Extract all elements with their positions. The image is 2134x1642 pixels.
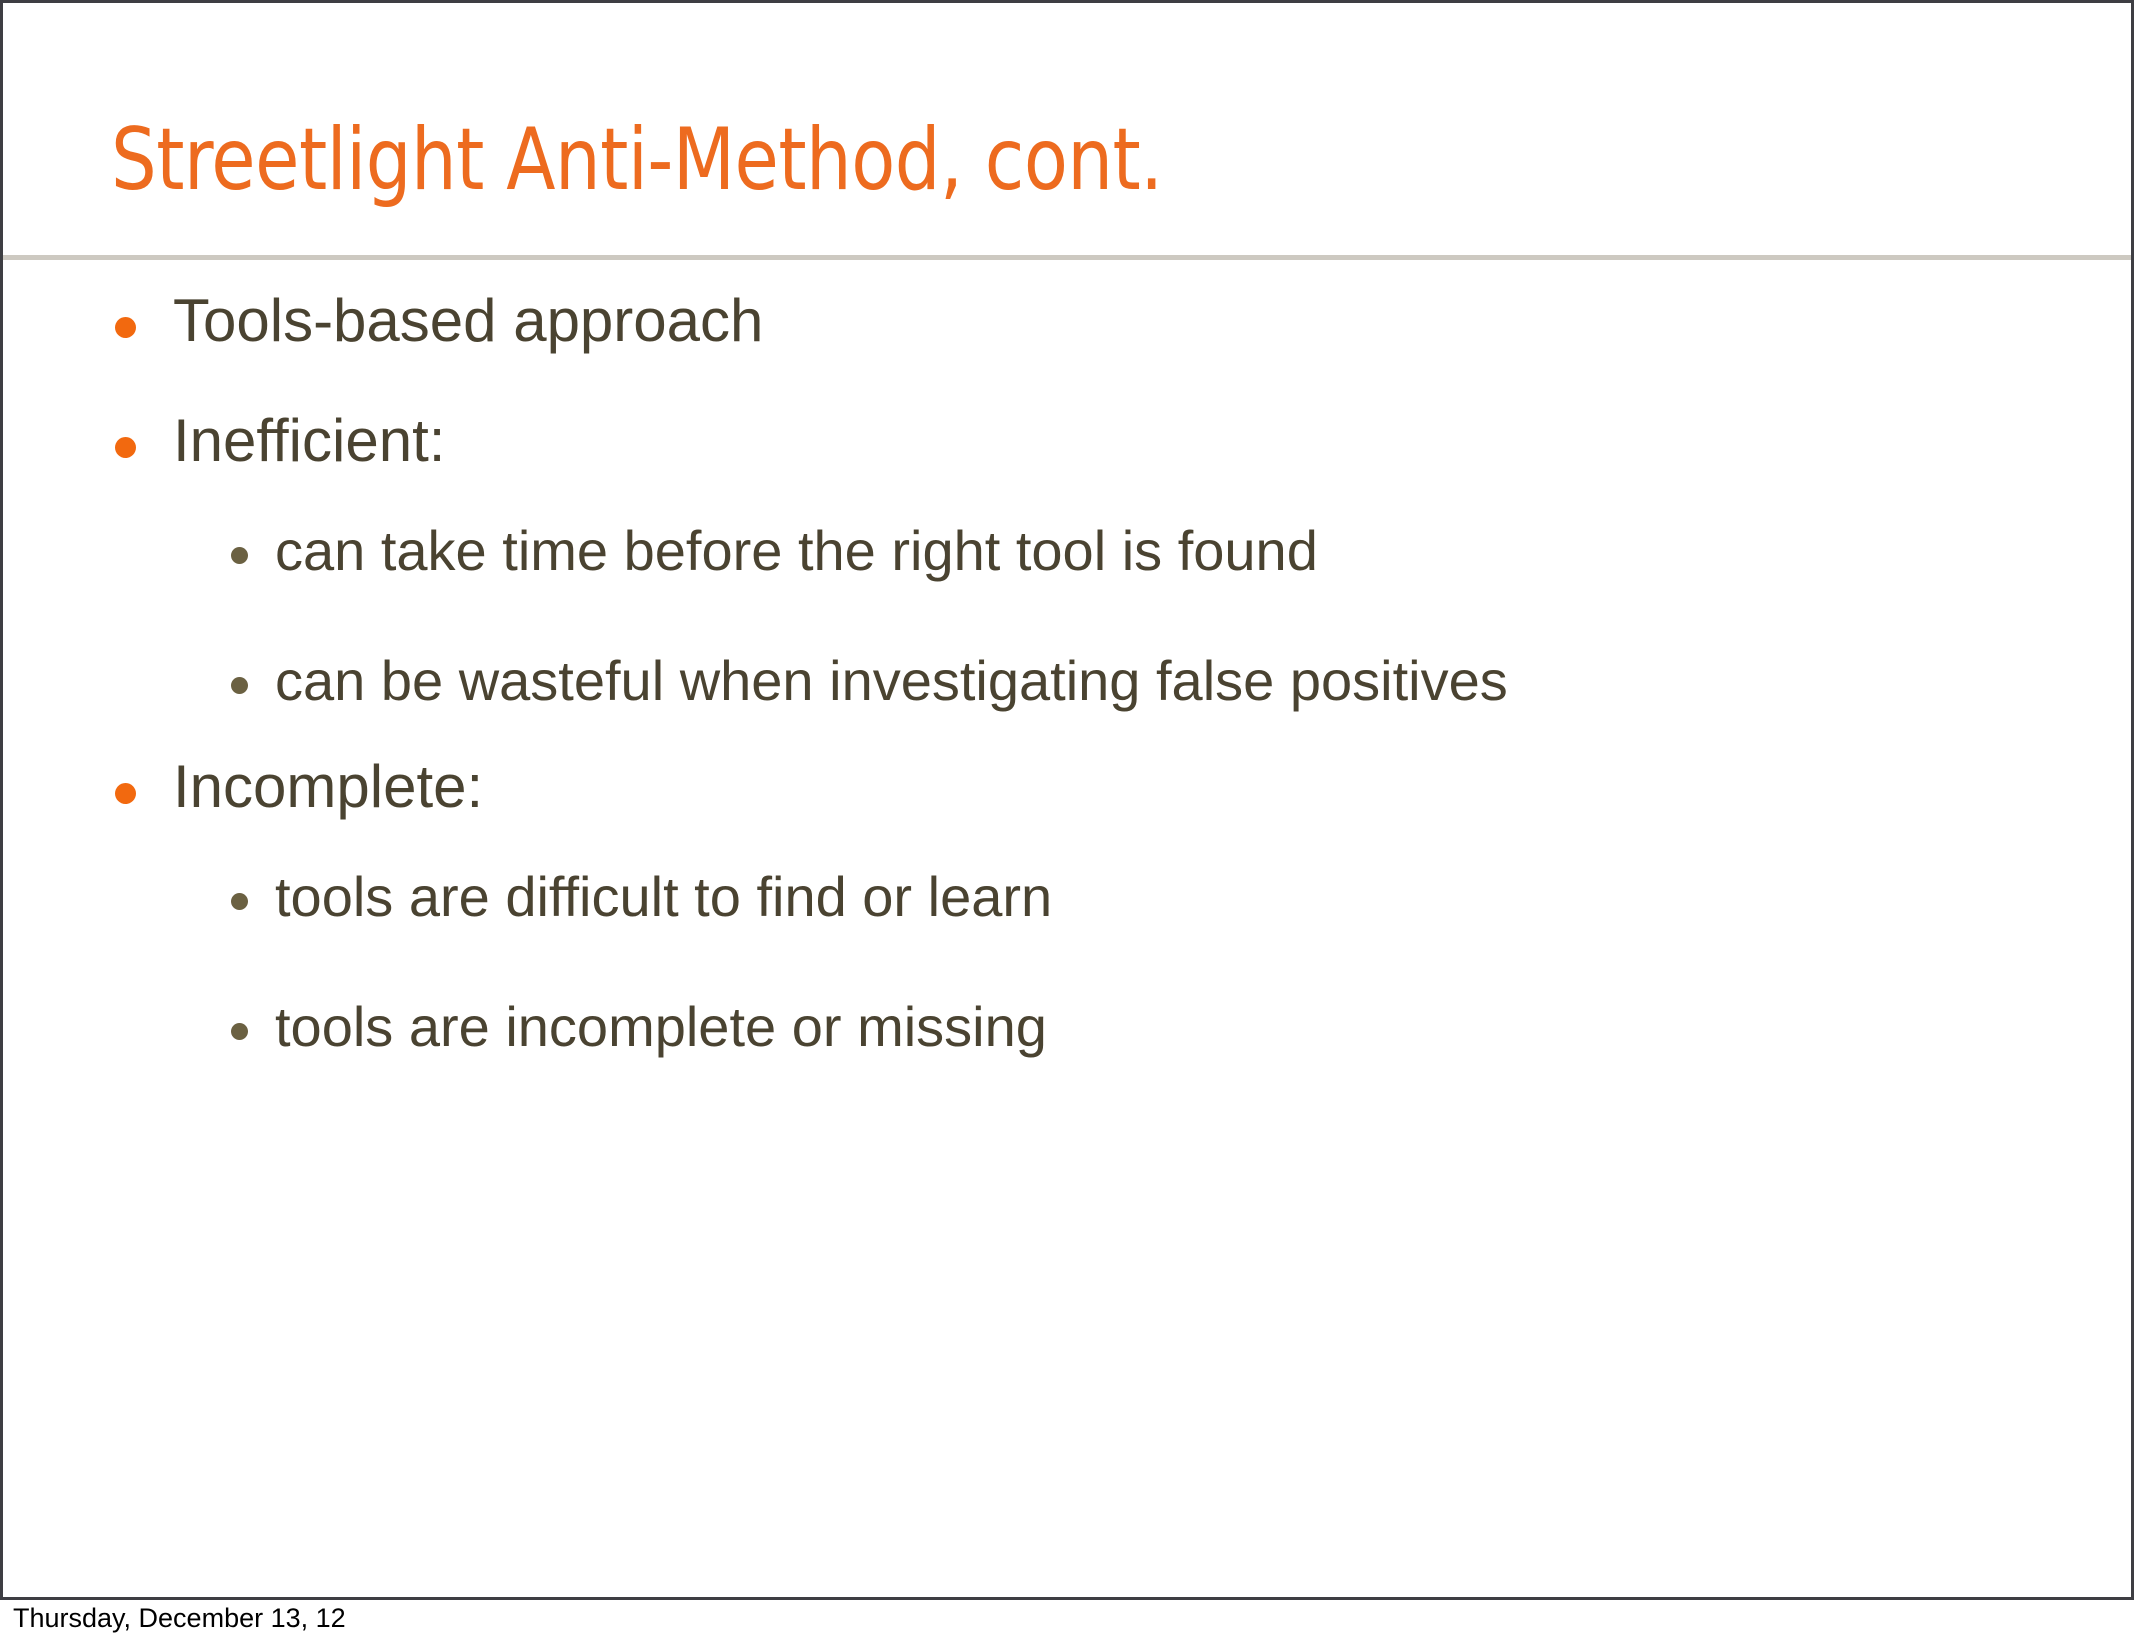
bullet-list: Tools-based approach Inefficient: can ta…	[3, 291, 2134, 1129]
list-item-label: tools are incomplete or missing	[275, 999, 1047, 1055]
list-item: Tools-based approach	[3, 291, 2134, 351]
list-item: tools are difficult to find or learn	[3, 869, 2134, 925]
sub-bullet-dot-icon	[231, 677, 248, 694]
list-item-label: tools are difficult to find or learn	[275, 869, 1052, 925]
list-item-label: can take time before the right tool is f…	[275, 523, 1318, 579]
list-item: Inefficient:	[3, 411, 2134, 471]
sub-bullet-dot-icon	[231, 893, 248, 910]
list-item-label: can be wasteful when investigating false…	[275, 653, 1508, 709]
list-item: can take time before the right tool is f…	[3, 523, 2134, 579]
footer-date: Thursday, December 13, 12	[13, 1604, 346, 1634]
title-divider	[3, 255, 2134, 260]
bullet-dot-icon	[115, 317, 136, 338]
list-item: can be wasteful when investigating false…	[3, 653, 2134, 709]
list-item-label: Inefficient:	[173, 411, 445, 471]
sub-bullet-dot-icon	[231, 547, 248, 564]
bullet-dot-icon	[115, 437, 136, 458]
bullet-dot-icon	[115, 783, 136, 804]
page-title: Streetlight Anti-Method, cont.	[111, 115, 1878, 205]
slide-canvas: Streetlight Anti-Method, cont. Tools-bas…	[0, 0, 2134, 1600]
list-item-label: Tools-based approach	[173, 291, 763, 351]
list-item: tools are incomplete or missing	[3, 999, 2134, 1055]
list-item-label: Incomplete:	[173, 757, 483, 817]
sub-bullet-dot-icon	[231, 1023, 248, 1040]
list-item: Incomplete:	[3, 757, 2134, 817]
